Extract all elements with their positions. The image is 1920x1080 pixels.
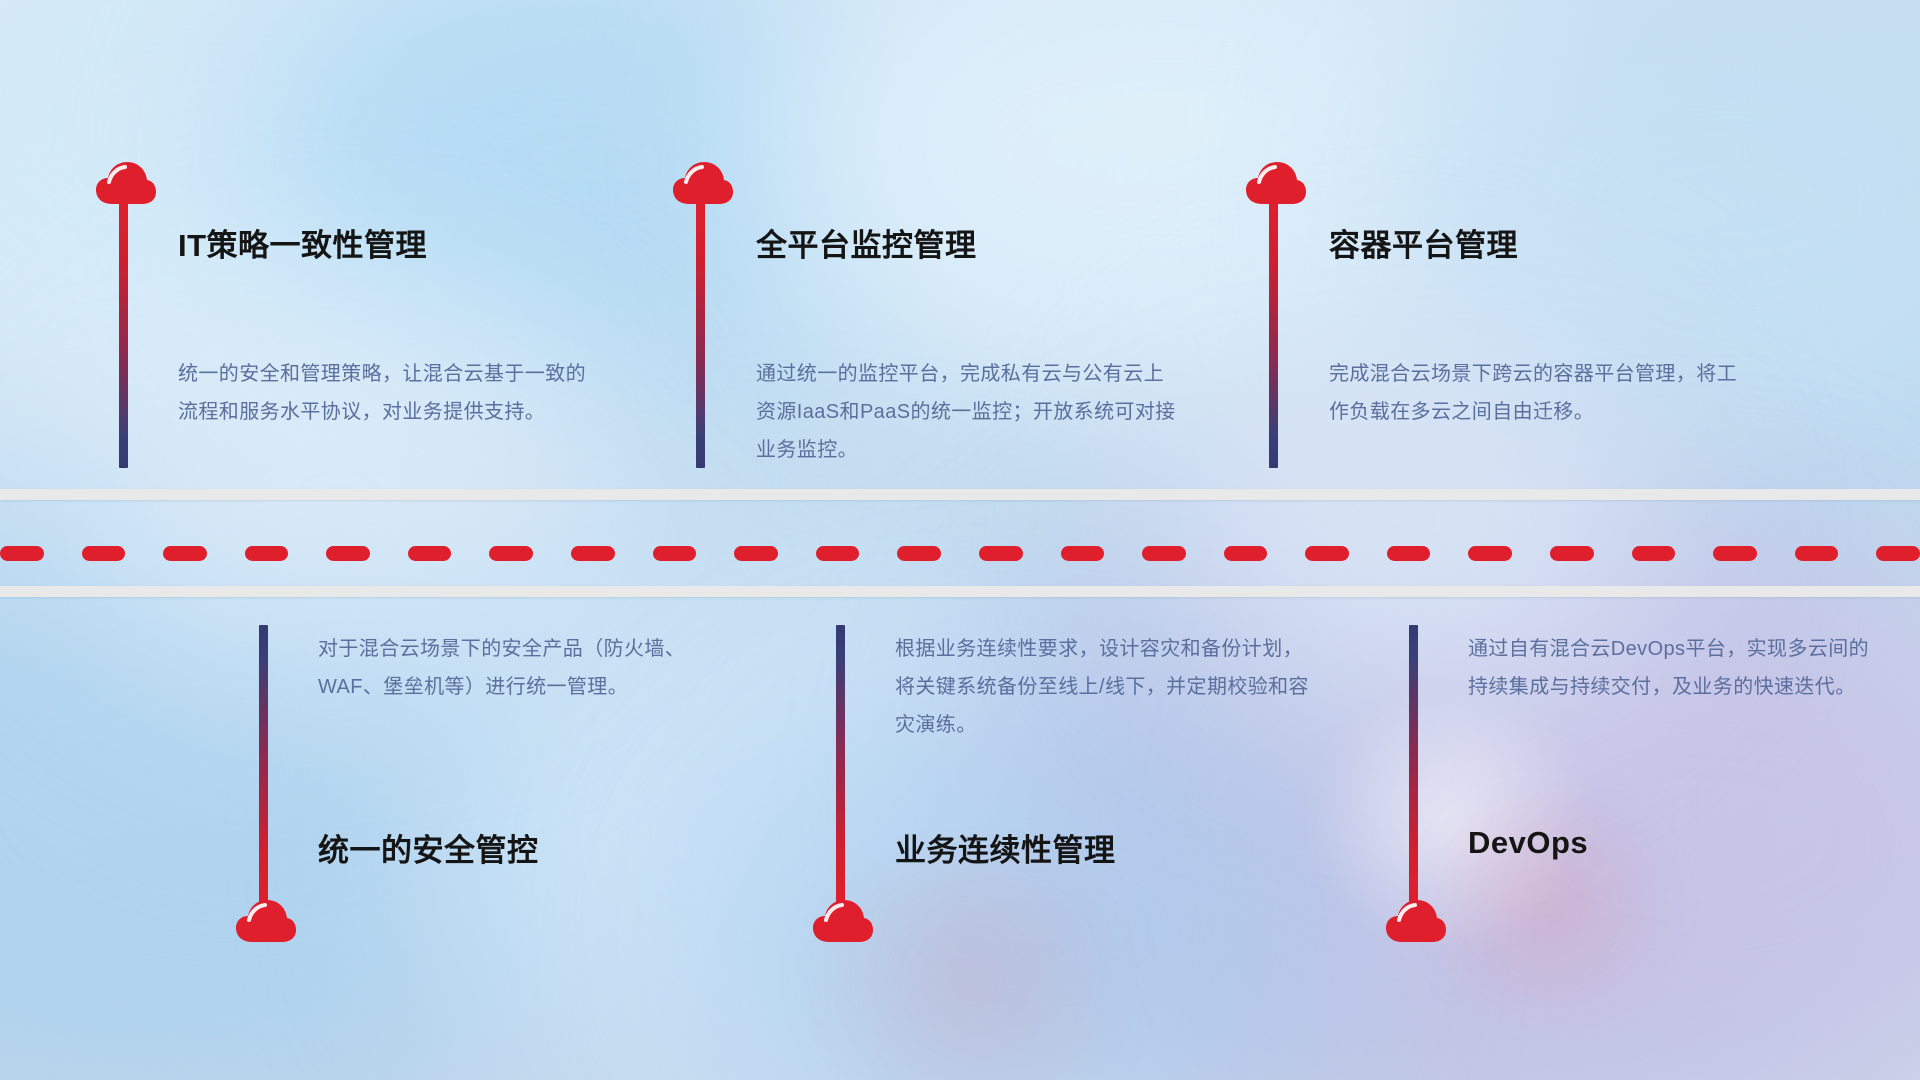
road-dash (734, 546, 778, 561)
road-dash (408, 546, 452, 561)
road-dash (1061, 546, 1105, 561)
road-dash (82, 546, 126, 561)
card-title: 业务连续性管理 (895, 825, 1116, 870)
road-dash (897, 546, 941, 561)
card-title: IT策略一致性管理 (178, 220, 427, 265)
road-band-bottom (0, 586, 1920, 597)
stem-line (836, 625, 845, 905)
road-dash (1387, 546, 1431, 561)
road-dash (1468, 546, 1512, 561)
card-body: 通过统一的监控平台，完成私有云与公有云上资源IaaS和PaaS的统一监控；开放系… (756, 355, 1176, 469)
card-title: DevOps (1468, 825, 1588, 861)
road-dash (1876, 546, 1920, 561)
card-body: 通过自有混合云DevOps平台，实现多云间的持续集成与持续交付，及业务的快速迭代… (1468, 630, 1888, 706)
road-dash (489, 546, 533, 561)
road-dash (326, 546, 370, 561)
road-dash (1305, 546, 1349, 561)
stem-line (119, 200, 128, 468)
card-body: 对于混合云场景下的安全产品（防火墙、WAF、堡垒机等）进行统一管理。 (318, 630, 738, 706)
card-title: 全平台监控管理 (756, 220, 977, 265)
stem-line (259, 625, 268, 905)
cloud-icon (812, 898, 874, 944)
road-dash (816, 546, 860, 561)
road-dash (1550, 546, 1594, 561)
road-dash-line (0, 545, 1920, 561)
card-body: 根据业务连续性要求，设计容灾和备份计划，将关键系统备份至线上/线下，并定期校验和… (895, 630, 1315, 744)
road-dash (1795, 546, 1839, 561)
road-dash (1713, 546, 1757, 561)
road-dash (163, 546, 207, 561)
road-dash (1224, 546, 1268, 561)
card-body: 统一的安全和管理策略，让混合云基于一致的流程和服务水平协议，对业务提供支持。 (178, 355, 598, 431)
road-dash (653, 546, 697, 561)
card-body: 完成混合云场景下跨云的容器平台管理，将工作负载在多云之间自由迁移。 (1329, 355, 1749, 431)
road-dash (979, 546, 1023, 561)
stem-line (1409, 625, 1418, 905)
cloud-icon (235, 898, 297, 944)
stem-line (696, 200, 705, 468)
road-dash (245, 546, 289, 561)
card-title: 容器平台管理 (1329, 220, 1518, 265)
road-band-top (0, 489, 1920, 500)
road-dash (1632, 546, 1676, 561)
infographic-canvas: IT策略一致性管理 统一的安全和管理策略，让混合云基于一致的流程和服务水平协议，… (0, 0, 1920, 1080)
card-title: 统一的安全管控 (318, 825, 539, 870)
road-dash (1142, 546, 1186, 561)
stem-line (1269, 200, 1278, 468)
road-dash (0, 546, 44, 561)
road-dash (571, 546, 615, 561)
cloud-icon (1385, 898, 1447, 944)
